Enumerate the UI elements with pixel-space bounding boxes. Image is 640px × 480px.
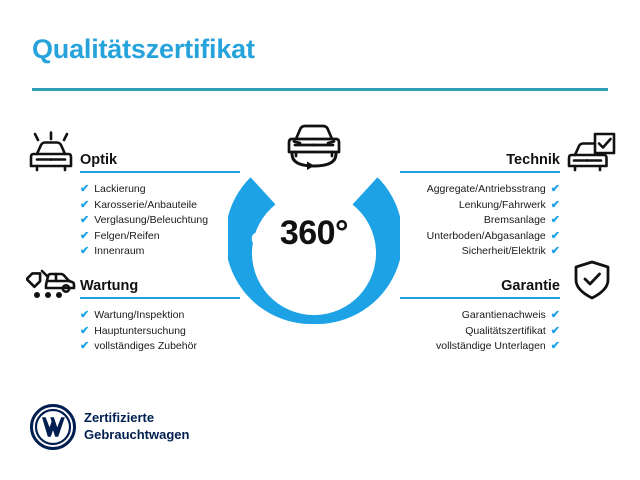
list-item: Qualitätszertifikat✔: [400, 324, 560, 340]
section-technik: Technik Aggregate/Antriebsstrang✔ Lenkun…: [400, 146, 560, 260]
section-optik: Optik ✔Lackierung ✔Karosserie/Anbauteile…: [80, 146, 240, 260]
vw-logo-caption: Zertifizierte Gebrauchtwagen: [84, 409, 189, 443]
check-icon: ✔: [80, 183, 89, 195]
check-icon: ✔: [551, 340, 560, 352]
section-optik-title: Optik: [80, 152, 117, 168]
list-item: Aggregate/Antriebsstrang✔: [400, 182, 560, 198]
car-rotate-icon: [280, 118, 348, 178]
list-item-label: Lenkung/Fahrwerk: [459, 199, 546, 211]
vw-caption-line2: Gebrauchtwagen: [84, 426, 189, 443]
list-item-label: Bremsanlage: [484, 214, 546, 226]
section-wartung: Wartung ✔Wartung/Inspektion ✔Hauptunters…: [80, 272, 240, 355]
list-item: ✔Wartung/Inspektion: [80, 308, 240, 324]
check-icon: ✔: [80, 230, 89, 242]
list-item-label: Qualitätszertifikat: [465, 325, 546, 337]
check-icon: ✔: [551, 183, 560, 195]
list-item-label: Wartung/Inspektion: [94, 309, 184, 321]
shield-check-icon: [570, 258, 614, 307]
check-icon: ✔: [80, 214, 89, 226]
list-item-label: vollständiges Zubehör: [94, 340, 197, 352]
section-garantie-header: Garantie: [400, 272, 560, 296]
list-item-label: Aggregate/Antriebsstrang: [427, 183, 546, 195]
list-item-label: Verglasung/Beleuchtung: [94, 214, 208, 226]
badge-center-label: 360°: [228, 214, 400, 253]
check-icon: ✔: [80, 325, 89, 337]
check-icon: ✔: [80, 309, 89, 321]
section-garantie-divider: [400, 297, 560, 299]
list-item: ✔Felgen/Reifen: [80, 229, 240, 245]
title-divider: [32, 88, 608, 91]
check-icon: ✔: [80, 199, 89, 211]
list-item: ✔Lackierung: [80, 182, 240, 198]
section-technik-header: Technik: [400, 146, 560, 170]
section-garantie-list: Garantienachweis✔ Qualitätszertifikat✔ v…: [400, 308, 560, 355]
list-item: Lenkung/Fahrwerk✔: [400, 198, 560, 214]
vw-roundel-icon: [30, 404, 76, 450]
certificate-page: Qualitätszertifikat Optik ✔Lackier: [0, 0, 640, 480]
list-item-label: Innenraum: [94, 245, 144, 257]
section-technik-title: Technik: [506, 152, 560, 168]
360-check-badge: Gebrauchtwagen-Check 360°: [228, 152, 400, 324]
check-icon: ✔: [80, 245, 89, 257]
section-optik-divider: [80, 171, 240, 173]
check-icon: ✔: [80, 340, 89, 352]
list-item: ✔Karosserie/Anbauteile: [80, 198, 240, 214]
car-checkbox-icon: [566, 131, 618, 180]
list-item-label: Lackierung: [94, 183, 145, 195]
list-item: Bremsanlage✔: [400, 213, 560, 229]
check-icon: ✔: [551, 245, 560, 257]
section-optik-list: ✔Lackierung ✔Karosserie/Anbauteile ✔Verg…: [80, 182, 240, 260]
list-item-label: vollständige Unterlagen: [436, 340, 546, 352]
section-optik-header: Optik: [80, 146, 240, 170]
section-garantie: Garantie Garantienachweis✔ Qualitätszert…: [400, 272, 560, 355]
car-shine-icon: [26, 131, 76, 180]
list-item: ✔Innenraum: [80, 244, 240, 260]
volkswagen-logo: [30, 404, 76, 455]
section-technik-divider: [400, 171, 560, 173]
list-item: ✔vollständiges Zubehör: [80, 339, 240, 355]
list-item-label: Garantienachweis: [462, 309, 546, 321]
section-technik-list: Aggregate/Antriebsstrang✔ Lenkung/Fahrwe…: [400, 182, 560, 260]
list-item: Sicherheit/Elektrik✔: [400, 244, 560, 260]
section-wartung-header: Wartung: [80, 272, 240, 296]
section-garantie-title: Garantie: [501, 278, 560, 294]
list-item-label: Karosserie/Anbauteile: [94, 199, 197, 211]
page-title: Qualitätszertifikat: [32, 34, 255, 65]
car-service-wrench-icon: [26, 257, 78, 306]
check-icon: ✔: [551, 199, 560, 211]
check-icon: ✔: [551, 230, 560, 242]
list-item: Garantienachweis✔: [400, 308, 560, 324]
section-wartung-list: ✔Wartung/Inspektion ✔Hauptuntersuchung ✔…: [80, 308, 240, 355]
list-item: Unterboden/Abgasanlage✔: [400, 229, 560, 245]
section-wartung-divider: [80, 297, 240, 299]
list-item-label: Hauptuntersuchung: [94, 325, 186, 337]
list-item-label: Sicherheit/Elektrik: [462, 245, 546, 257]
list-item: vollständige Unterlagen✔: [400, 339, 560, 355]
list-item-label: Unterboden/Abgasanlage: [427, 230, 546, 242]
check-icon: ✔: [551, 309, 560, 321]
list-item-label: Felgen/Reifen: [94, 230, 159, 242]
list-item: ✔Hauptuntersuchung: [80, 324, 240, 340]
section-wartung-title: Wartung: [80, 278, 138, 294]
check-icon: ✔: [551, 214, 560, 226]
list-item: ✔Verglasung/Beleuchtung: [80, 213, 240, 229]
vw-caption-line1: Zertifizierte: [84, 409, 189, 426]
check-icon: ✔: [551, 325, 560, 337]
